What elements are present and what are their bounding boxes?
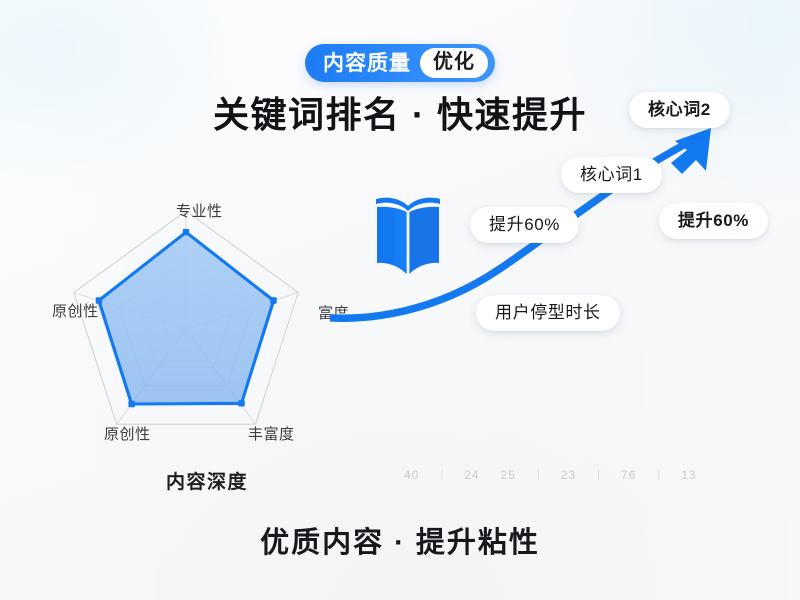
page-subtitle: 优质内容 · 提升粘性 bbox=[260, 519, 540, 561]
pill-core-keyword-1[interactable]: 核心词1 bbox=[561, 157, 662, 193]
poster-canvas: 内容质量 优化 关键词排名 · 快速提升 bbox=[0, 0, 800, 600]
badge-main-label: 内容质量 bbox=[323, 53, 420, 74]
radar-label-bottom-left: 原创性 bbox=[104, 423, 151, 444]
badge-pill-label: 优化 bbox=[420, 48, 488, 78]
tick-separator: | bbox=[537, 469, 540, 481]
content-quality-badge[interactable]: 内容质量 优化 bbox=[305, 44, 495, 82]
tick-label: 24 bbox=[464, 468, 479, 482]
tick-label: 76 bbox=[621, 468, 636, 482]
radar-label-bottom-right: 丰富度 bbox=[248, 423, 295, 444]
faint-axis-ticks: 40 | 24 25 | 23 | 76 | 13 bbox=[404, 462, 794, 488]
radar-label-top: 专业性 bbox=[176, 200, 223, 221]
tick-label: 25 bbox=[501, 468, 516, 482]
radar-chart bbox=[34, 196, 374, 466]
tick-label: 23 bbox=[561, 468, 576, 482]
radar-chart-svg bbox=[34, 196, 374, 466]
tick-separator: | bbox=[657, 469, 660, 481]
radar-label-left: 原创性 bbox=[52, 300, 99, 321]
tick-label: 40 bbox=[404, 468, 419, 482]
pill-uplift-right[interactable]: 提升60% bbox=[659, 203, 768, 239]
pill-dwell-time[interactable]: 用户停型时长 bbox=[476, 295, 620, 331]
radar-data-area bbox=[99, 232, 274, 404]
tick-label: 13 bbox=[681, 468, 696, 482]
radar-caption: 内容深度 bbox=[166, 467, 248, 494]
tick-separator: | bbox=[440, 469, 443, 481]
pill-core-keyword-2[interactable]: 核心词2 bbox=[629, 92, 730, 128]
pill-uplift-left[interactable]: 提升60% bbox=[470, 207, 579, 243]
tick-separator: | bbox=[597, 469, 600, 481]
